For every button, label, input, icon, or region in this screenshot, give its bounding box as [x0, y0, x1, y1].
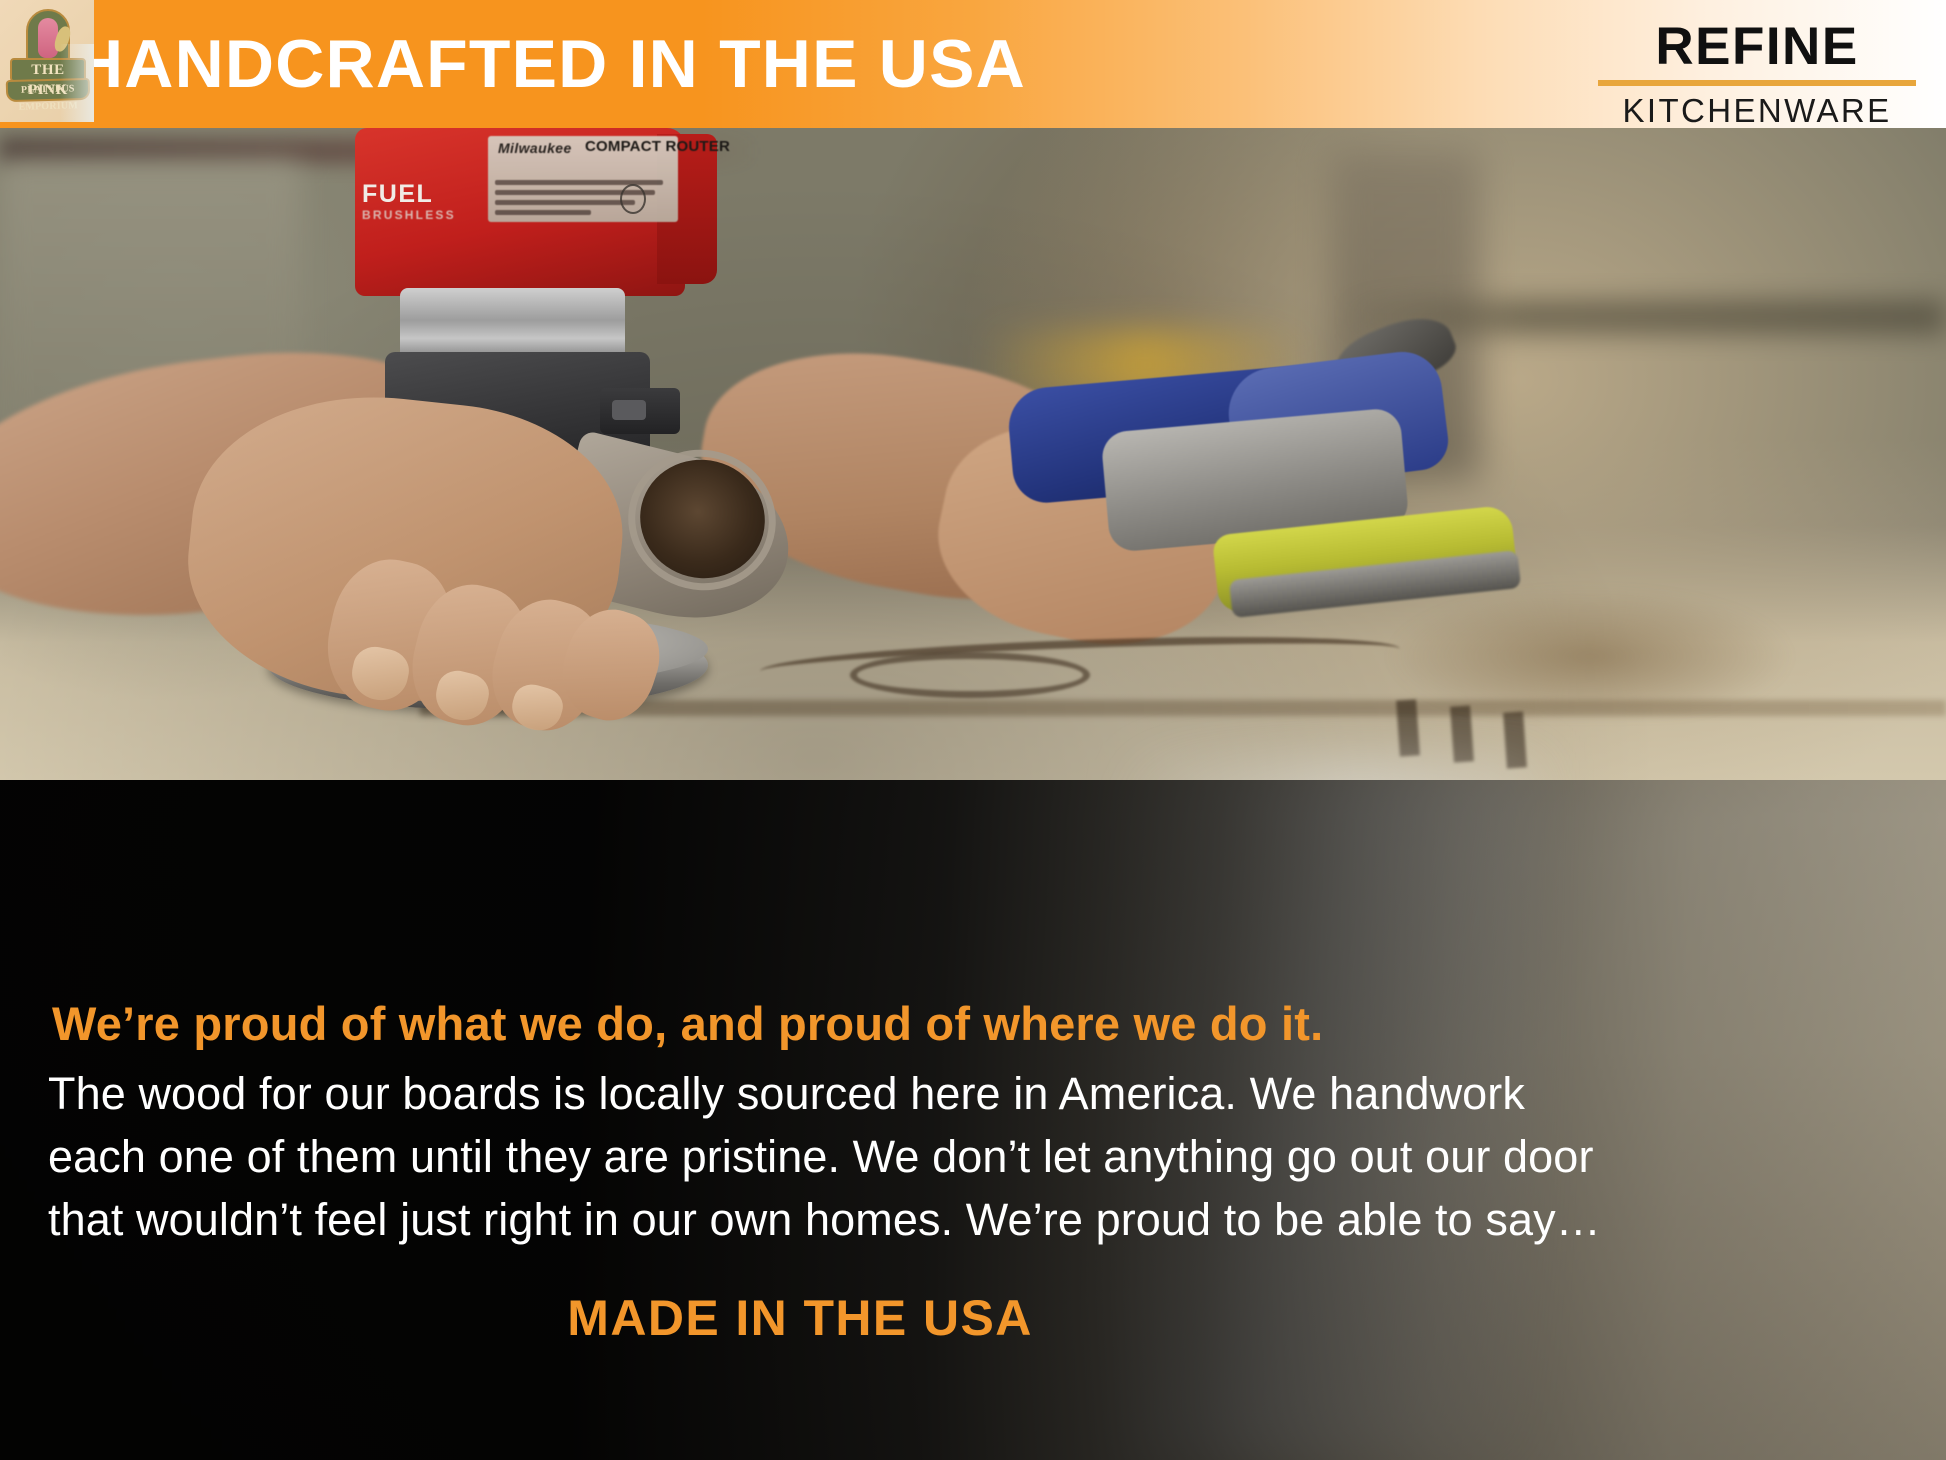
overlay-lead-text: We’re proud of what we do, and proud of …: [52, 996, 1323, 1052]
router-brushless-badge: BRUSHLESS: [362, 208, 456, 222]
overlay-body-copy: The wood for our boards is locally sourc…: [48, 1062, 1928, 1251]
page-title: HANDCRAFTED IN THE USA: [74, 18, 1026, 110]
watermark-fade: [60, 44, 94, 122]
router-collar: [400, 288, 625, 360]
body-line: that wouldn’t feel just right in our own…: [48, 1188, 1928, 1251]
slide-canvas: Milwaukee COMPACT ROUTER FUEL BRUSHLESS …: [0, 0, 1946, 1460]
brand-logo: REFINE KITCHENWARE: [1592, 18, 1922, 129]
router-model-text: COMPACT ROUTER: [585, 139, 730, 155]
body-line: The wood for our boards is locally sourc…: [48, 1062, 1928, 1125]
made-in-usa-text: MADE IN THE USA: [0, 1288, 1600, 1348]
routed-groove-inner: [850, 652, 1090, 698]
router-fuel-badge: FUEL: [362, 180, 433, 209]
body-line: each one of them until they are pristine…: [48, 1125, 1928, 1188]
ul-certification-icon: [620, 184, 646, 214]
brand-tagline: KITCHENWARE: [1592, 93, 1922, 129]
watermark-logo: THE PINK PLATYPUS EMPORIUM: [0, 0, 94, 122]
brand-name: REFINE: [1592, 18, 1922, 76]
sawdust-pile: [1380, 585, 1800, 715]
logo-divider-rule: [1598, 80, 1916, 86]
router-brand-text: Milwaukee: [498, 140, 572, 156]
router-power-switch: [600, 388, 680, 434]
